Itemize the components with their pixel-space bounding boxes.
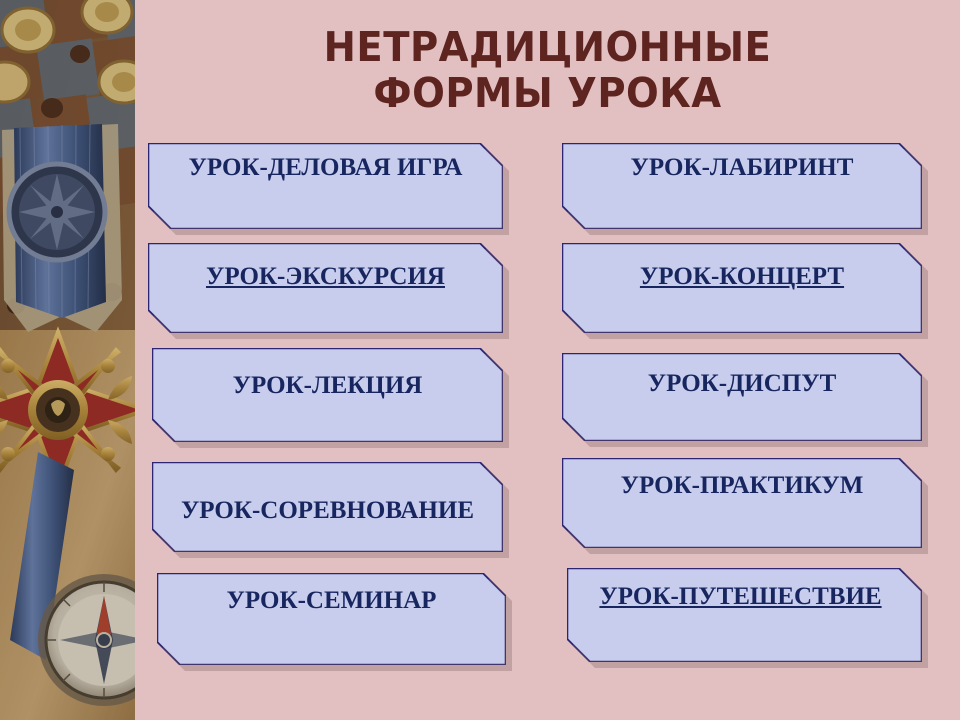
lesson-card-left-4[interactable]: УРОК-СОРЕВНОВАНИЕ (152, 462, 503, 552)
lesson-card-left-3[interactable]: УРОК-ЛЕКЦИЯ (152, 348, 503, 442)
lesson-card-right-1[interactable]: УРОК-ЛАБИРИНТ (562, 143, 922, 229)
lesson-card-label: УРОК-ЛЕКЦИЯ (153, 373, 501, 399)
lesson-card-right-2[interactable]: УРОК-КОНЦЕРТ (562, 243, 922, 333)
lesson-card-right-5[interactable]: УРОК-ПУТЕШЕСТВИЕ (567, 568, 922, 662)
lesson-card-label: УРОК-ЛАБИРИНТ (563, 155, 920, 181)
lesson-card-label: УРОК-СОРЕВНОВАНИЕ (153, 495, 501, 527)
lesson-card-label: УРОК-ДИСПУТ (563, 371, 920, 397)
lesson-card-label: УРОК-ДЕЛОВАЯ ИГРА (149, 155, 501, 181)
card-body[interactable]: УРОК-ДИСПУТ (563, 354, 920, 439)
lesson-card-link[interactable]: УРОК-ПУТЕШЕСТВИЕ (560, 584, 920, 610)
card-body[interactable]: УРОК-СЕМИНАР (158, 574, 504, 663)
lesson-card-link[interactable]: УРОК-ЭКСКУРСИЯ (149, 264, 501, 290)
lesson-card-left-2[interactable]: УРОК-ЭКСКУРСИЯ (148, 243, 503, 333)
lesson-card-left-5[interactable]: УРОК-СЕМИНАР (157, 573, 506, 665)
card-body[interactable]: УРОК-СОРЕВНОВАНИЕ (153, 463, 501, 550)
lesson-card-label: УРОК-СЕМИНАР (158, 588, 504, 614)
lesson-card-link[interactable]: УРОК-КОНЦЕРТ (563, 264, 920, 290)
lesson-card-right-3[interactable]: УРОК-ДИСПУТ (562, 353, 922, 441)
lesson-card-left-1[interactable]: УРОК-ДЕЛОВАЯ ИГРА (148, 143, 503, 229)
card-body[interactable]: УРОК-ДЕЛОВАЯ ИГРА (149, 144, 501, 227)
card-body[interactable]: УРОК-ПРАКТИКУМ (563, 459, 920, 546)
card-body[interactable]: УРОК-ЛЕКЦИЯ (153, 349, 501, 440)
card-body[interactable]: УРОК-ЛАБИРИНТ (563, 144, 920, 227)
lesson-card-right-4[interactable]: УРОК-ПРАКТИКУМ (562, 458, 922, 548)
lesson-card-label: УРОК-ПРАКТИКУМ (563, 473, 920, 499)
slide-canvas: НЕТРАДИЦИОННЫЕ ФОРМЫ УРОКА УРОК-ДЕЛОВАЯ … (0, 0, 960, 720)
card-body[interactable]: УРОК-ЭКСКУРСИЯ (149, 244, 501, 331)
card-body[interactable]: УРОК-ПУТЕШЕСТВИЕ (568, 569, 920, 660)
card-body[interactable]: УРОК-КОНЦЕРТ (563, 244, 920, 331)
lesson-forms-grid: УРОК-ДЕЛОВАЯ ИГРА УРОК-ЭКСКУРСИЯ УРОК-ЛЕ… (0, 0, 960, 720)
